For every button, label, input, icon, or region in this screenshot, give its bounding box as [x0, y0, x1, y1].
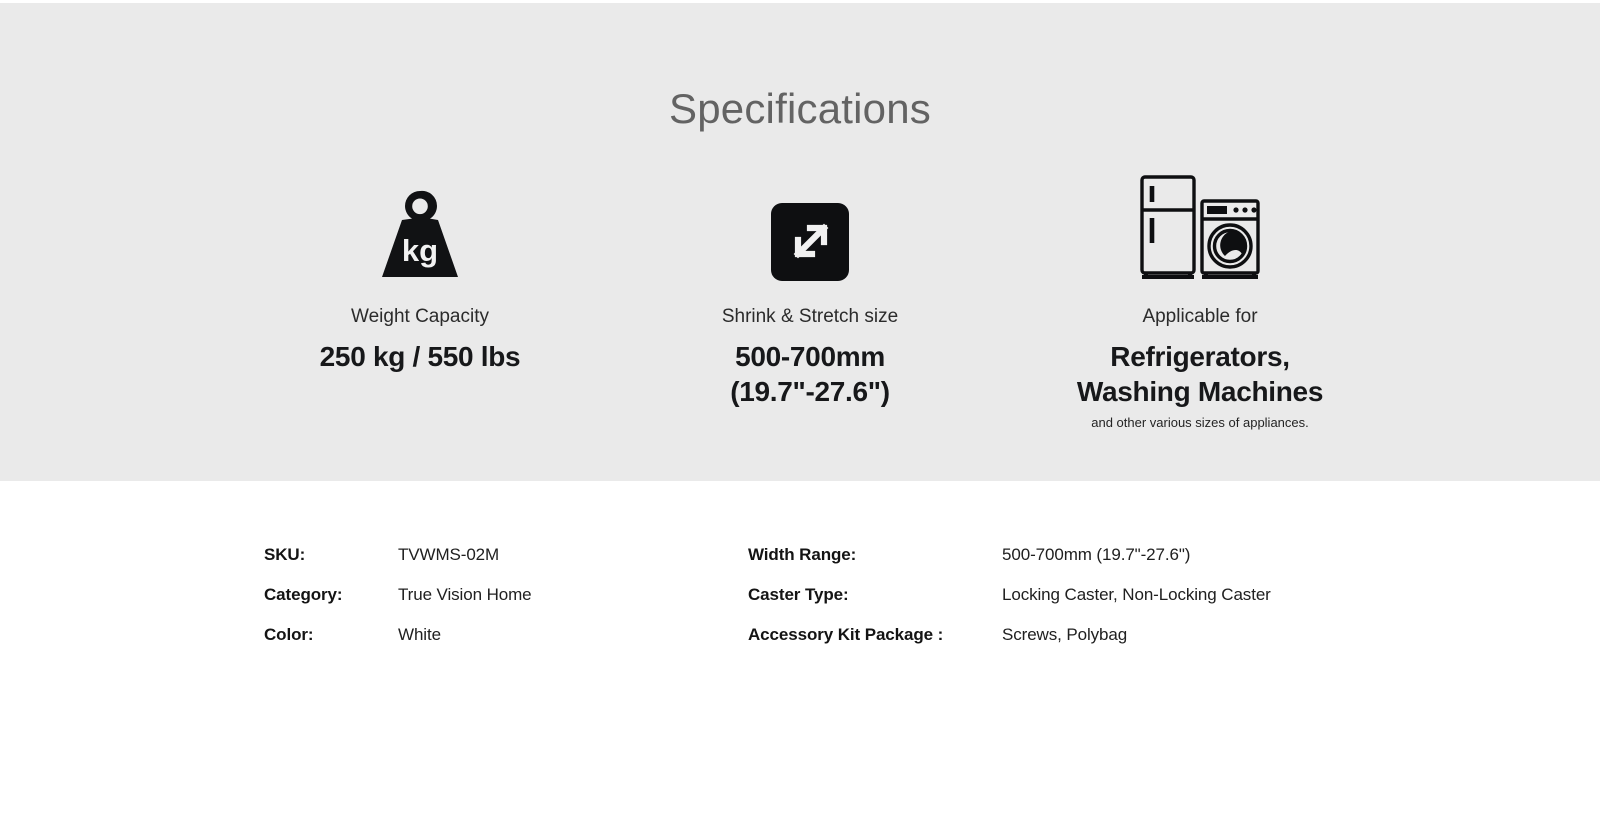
specifications-panel: Specifications kg Weight Capacity 250 kg… — [0, 3, 1600, 481]
table-row: Category: True Vision Home — [264, 585, 686, 625]
table-row: Accessory Kit Package : Screws, Polybag — [748, 625, 1286, 665]
spec-card-icon-wrap — [771, 163, 849, 281]
spec-card-value-line2: Washing Machines — [1077, 374, 1323, 409]
spec-card-value-line1: 500-700mm — [730, 339, 890, 374]
table-row: SKU: TVWMS-02M — [264, 545, 686, 585]
spec-card-applicable-for: Applicable for Refrigerators, Washing Ma… — [1030, 163, 1370, 432]
spec-card-value: 250 kg / 550 lbs — [320, 339, 521, 374]
detail-value: White — [398, 625, 441, 645]
spec-card-value: 500-700mm (19.7"-27.6") — [730, 339, 890, 409]
spec-card-note: and other various sizes of appliances. — [1091, 415, 1309, 432]
table-row: Width Range: 500-700mm (19.7"-27.6") — [748, 545, 1286, 585]
table-row: Color: White — [264, 625, 686, 665]
spec-card-label: Shrink & Stretch size — [722, 305, 898, 329]
table-row: Caster Type: Locking Caster, Non-Locking… — [748, 585, 1286, 625]
detail-key: Category: — [264, 585, 398, 605]
spec-card-shrink-stretch: Shrink & Stretch size 500-700mm (19.7"-2… — [640, 163, 980, 409]
detail-key: Color: — [264, 625, 398, 645]
spec-card-label: Applicable for — [1142, 305, 1257, 329]
product-details-section: SKU: TVWMS-02M Category: True Vision Hom… — [0, 481, 1600, 824]
spec-card-value: Refrigerators, Washing Machines — [1077, 339, 1323, 409]
detail-key: Accessory Kit Package : — [748, 625, 1002, 645]
detail-key: Width Range: — [748, 545, 1002, 565]
refrigerator-washer-icon — [1135, 169, 1265, 281]
detail-value: Screws, Polybag — [1002, 625, 1127, 645]
spec-card-value-line1: Refrigerators, — [1077, 339, 1323, 374]
spec-card-weight-capacity: kg Weight Capacity 250 kg / 550 lbs — [250, 163, 590, 374]
detail-value: Locking Caster, Non-Locking Caster — [1002, 585, 1271, 605]
detail-value: True Vision Home — [398, 585, 532, 605]
specifications-page: Specifications kg Weight Capacity 250 kg… — [0, 0, 1600, 824]
svg-text:kg: kg — [402, 233, 438, 268]
details-columns: SKU: TVWMS-02M Category: True Vision Hom… — [264, 545, 1344, 665]
spec-card-icon-wrap — [1135, 163, 1265, 281]
details-column-left: SKU: TVWMS-02M Category: True Vision Hom… — [264, 545, 686, 665]
spec-card-label: Weight Capacity — [351, 305, 489, 329]
weight-kg-icon: kg — [379, 189, 461, 281]
spec-card-value-line2: (19.7"-27.6") — [730, 374, 890, 409]
details-column-right: Width Range: 500-700mm (19.7"-27.6") Cas… — [686, 545, 1286, 665]
spec-card-list: kg Weight Capacity 250 kg / 550 lbs — [250, 163, 1370, 432]
page-title: Specifications — [0, 88, 1600, 130]
detail-value: 500-700mm (19.7"-27.6") — [1002, 545, 1190, 565]
expand-arrows-icon — [771, 203, 849, 281]
detail-value: TVWMS-02M — [398, 545, 499, 565]
detail-key: Caster Type: — [748, 585, 1002, 605]
spec-card-icon-wrap: kg — [379, 163, 461, 281]
detail-key: SKU: — [264, 545, 398, 565]
